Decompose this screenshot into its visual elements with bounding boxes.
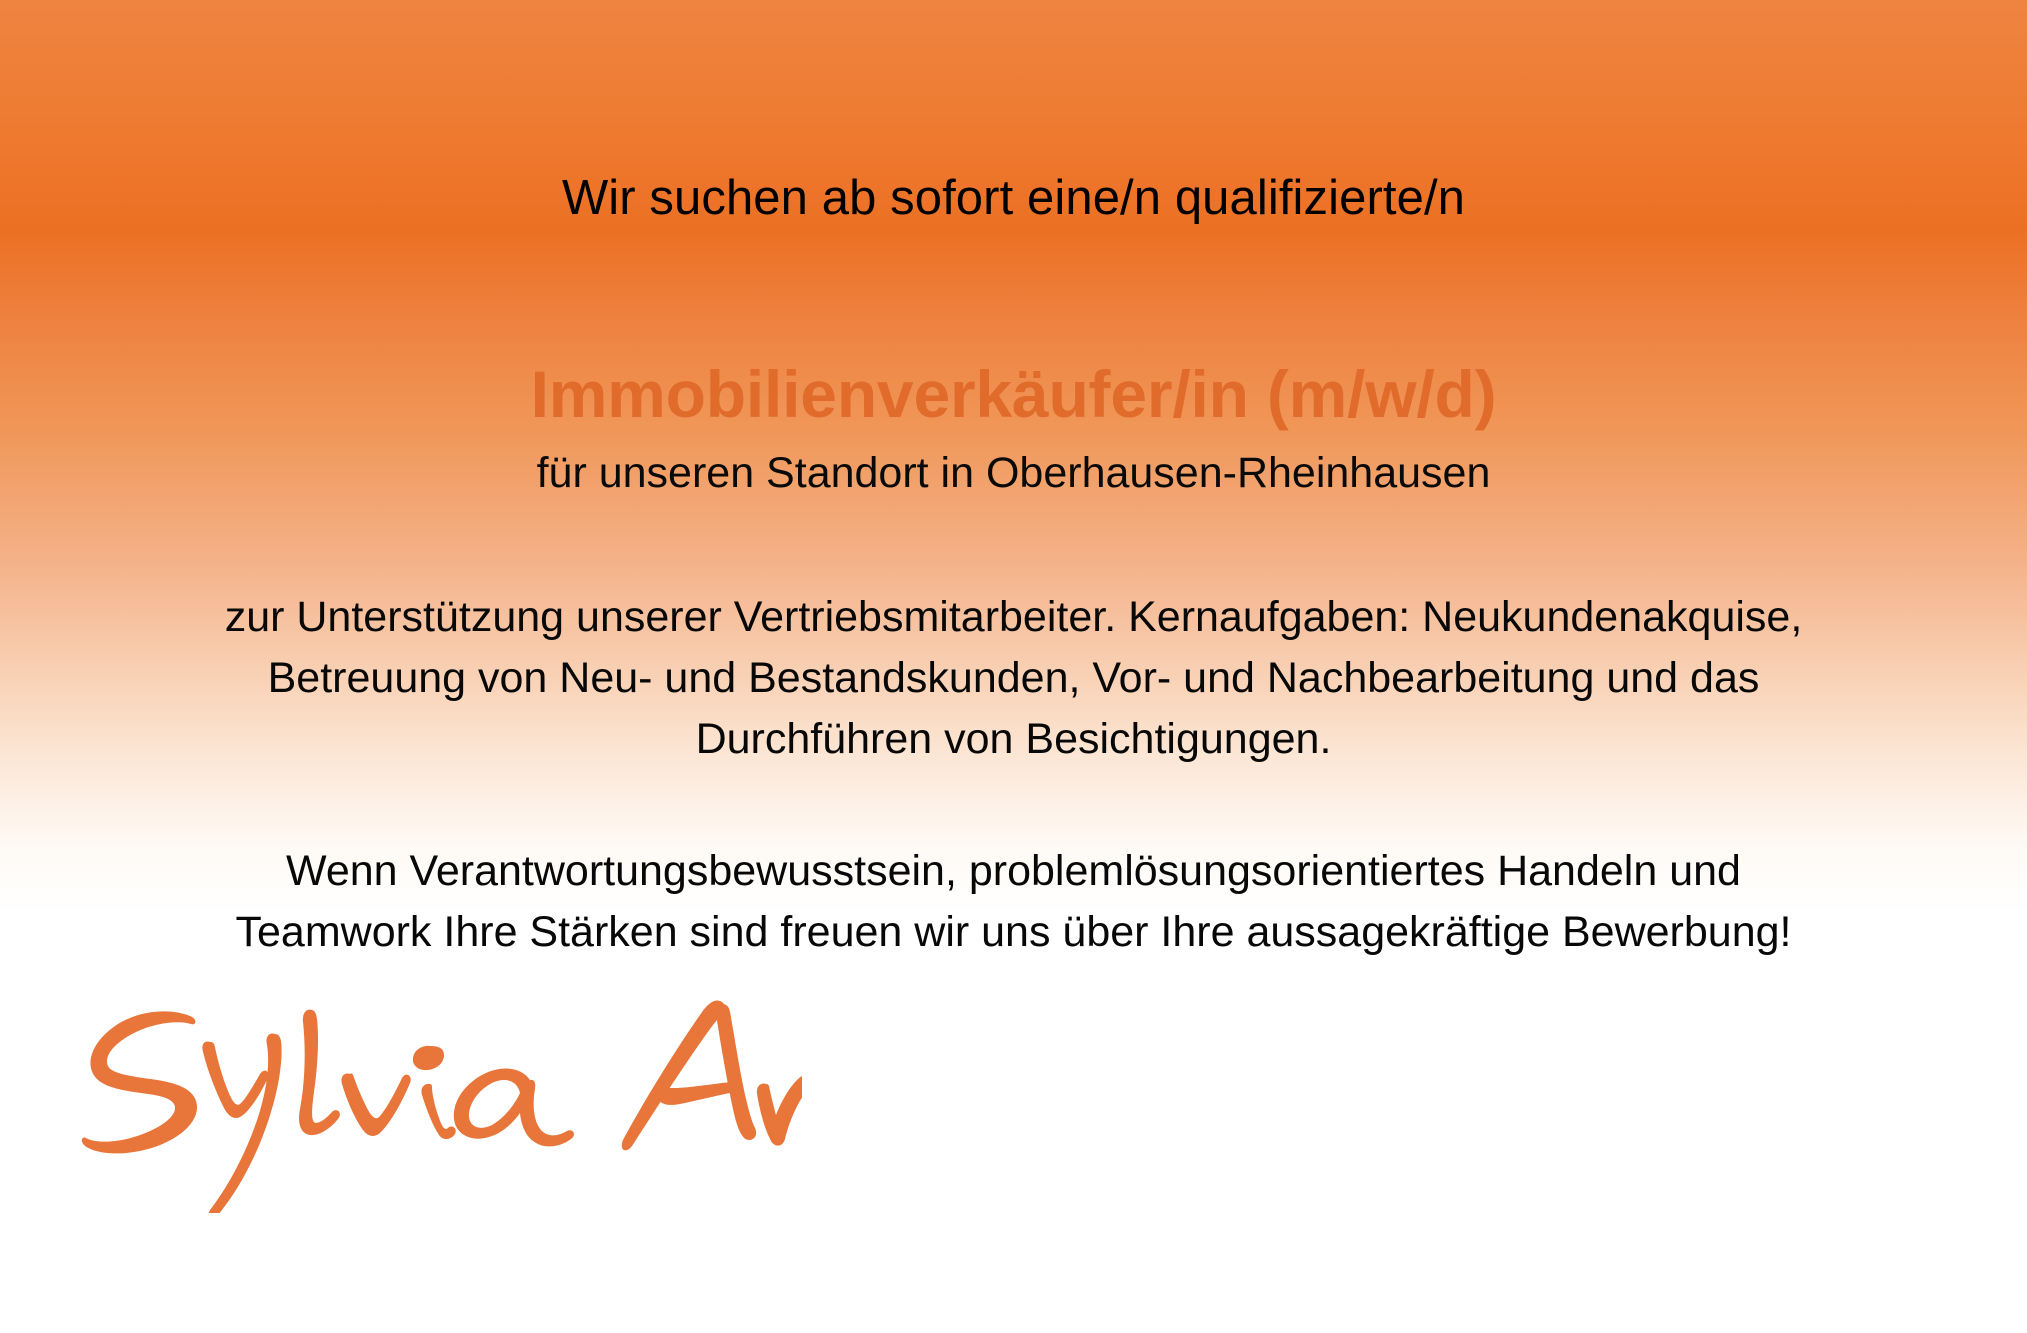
signature-logo-sylvia-ams xyxy=(62,988,802,1213)
paragraph-line: Teamwork Ihre Stärken sind freuen wir un… xyxy=(0,902,2027,963)
paragraph-line: Durchführen von Besichtigungen. xyxy=(0,709,2027,770)
job-title: Immobilienverkäufer/in (m/w/d) xyxy=(0,355,2027,433)
application-invitation-paragraph: Wenn Verantwortungsbewusstsein, probleml… xyxy=(0,841,2027,963)
ad-kicker-text: Wir suchen ab sofort eine/n qualifiziert… xyxy=(0,168,2027,228)
job-advertisement-poster: Wir suchen ab sofort eine/n qualifiziert… xyxy=(0,0,2027,1333)
paragraph-line: Betreuung von Neu- und Bestandskunden, V… xyxy=(0,648,2027,709)
job-location: für unseren Standort in Oberhausen-Rhein… xyxy=(0,447,2027,499)
company-logo-block: Lanzstr. 2a 68794 Oberhausen-Rheinhausen… xyxy=(0,988,2027,1333)
paragraph-line: zur Unterstützung unserer Vertriebsmitar… xyxy=(0,587,2027,648)
job-description-paragraph: zur Unterstützung unserer Vertriebsmitar… xyxy=(0,587,2027,770)
paragraph-line: Wenn Verantwortungsbewusstsein, probleml… xyxy=(0,841,2027,902)
